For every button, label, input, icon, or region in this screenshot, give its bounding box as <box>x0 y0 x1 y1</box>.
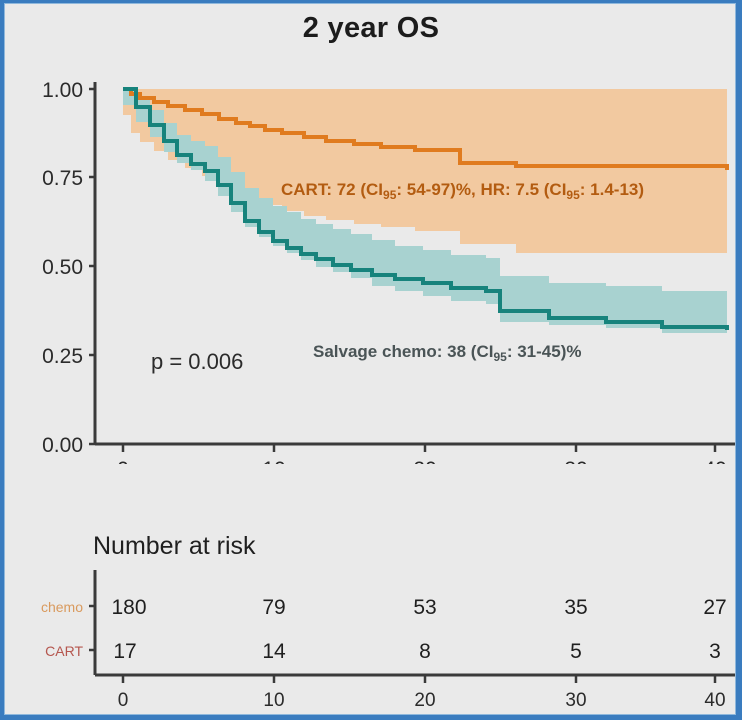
x-tick-label-0: 0 <box>117 458 129 464</box>
risk-table: Number at risk chemo CART 180 79 53 35 2… <box>5 522 736 715</box>
risk-table-svg: Number at risk chemo CART 180 79 53 35 2… <box>5 522 736 715</box>
y-tick-label-0: 0.00 <box>42 434 83 457</box>
risk-x-tick-label-3: 30 <box>565 690 586 711</box>
risk-cell-cart-1: 14 <box>262 640 286 663</box>
risk-row-label-cart: CART <box>45 643 83 659</box>
page-title: 2 year OS <box>5 12 736 45</box>
risk-cell-chemo-4: 27 <box>703 596 726 619</box>
x-tick-label-3: 30 <box>564 458 587 464</box>
chemo-annotation: Salvage chemo: 38 (CI95: 31-45)% <box>313 342 581 364</box>
cart-annotation: CART: 72 (CI95: 54-97)%, HR: 7.5 (CI95: … <box>281 180 644 202</box>
y-tick-label-4: 1.00 <box>42 79 83 102</box>
x-tick-label-2: 20 <box>413 458 436 464</box>
km-plot-svg: CART: 72 (CI95: 54-97)%, HR: 7.5 (CI95: … <box>5 64 736 464</box>
y-tick-label-1: 0.25 <box>42 345 83 368</box>
risk-table-heading: Number at risk <box>93 532 256 560</box>
figure-frame: 2 year OS CART: 72 (CI95: 54-97)%, HR: 7… <box>4 3 736 715</box>
risk-cell-cart-4: 3 <box>709 640 721 663</box>
km-plot: CART: 72 (CI95: 54-97)%, HR: 7.5 (CI95: … <box>5 64 736 464</box>
y-tick-label-3: 0.75 <box>42 167 83 190</box>
x-tick-label-4: 40 <box>703 458 726 464</box>
risk-x-tick-label-2: 20 <box>414 690 435 711</box>
risk-cell-chemo-0: 180 <box>111 596 146 619</box>
risk-cell-chemo-2: 53 <box>413 596 436 619</box>
risk-cell-cart-2: 8 <box>419 640 431 663</box>
risk-x-tick-label-4: 40 <box>704 690 725 711</box>
risk-row-label-chemo: chemo <box>41 599 83 615</box>
risk-x-tick-label-0: 0 <box>118 690 129 711</box>
x-tick-label-1: 10 <box>262 458 285 464</box>
risk-cell-chemo-3: 35 <box>564 596 587 619</box>
y-tick-label-2: 0.50 <box>42 256 83 279</box>
p-value-label: p = 0.006 <box>151 349 243 374</box>
risk-x-tick-label-1: 10 <box>263 690 284 711</box>
risk-cell-cart-3: 5 <box>570 640 582 663</box>
risk-cell-chemo-1: 79 <box>262 596 285 619</box>
risk-cell-cart-0: 17 <box>113 640 136 663</box>
